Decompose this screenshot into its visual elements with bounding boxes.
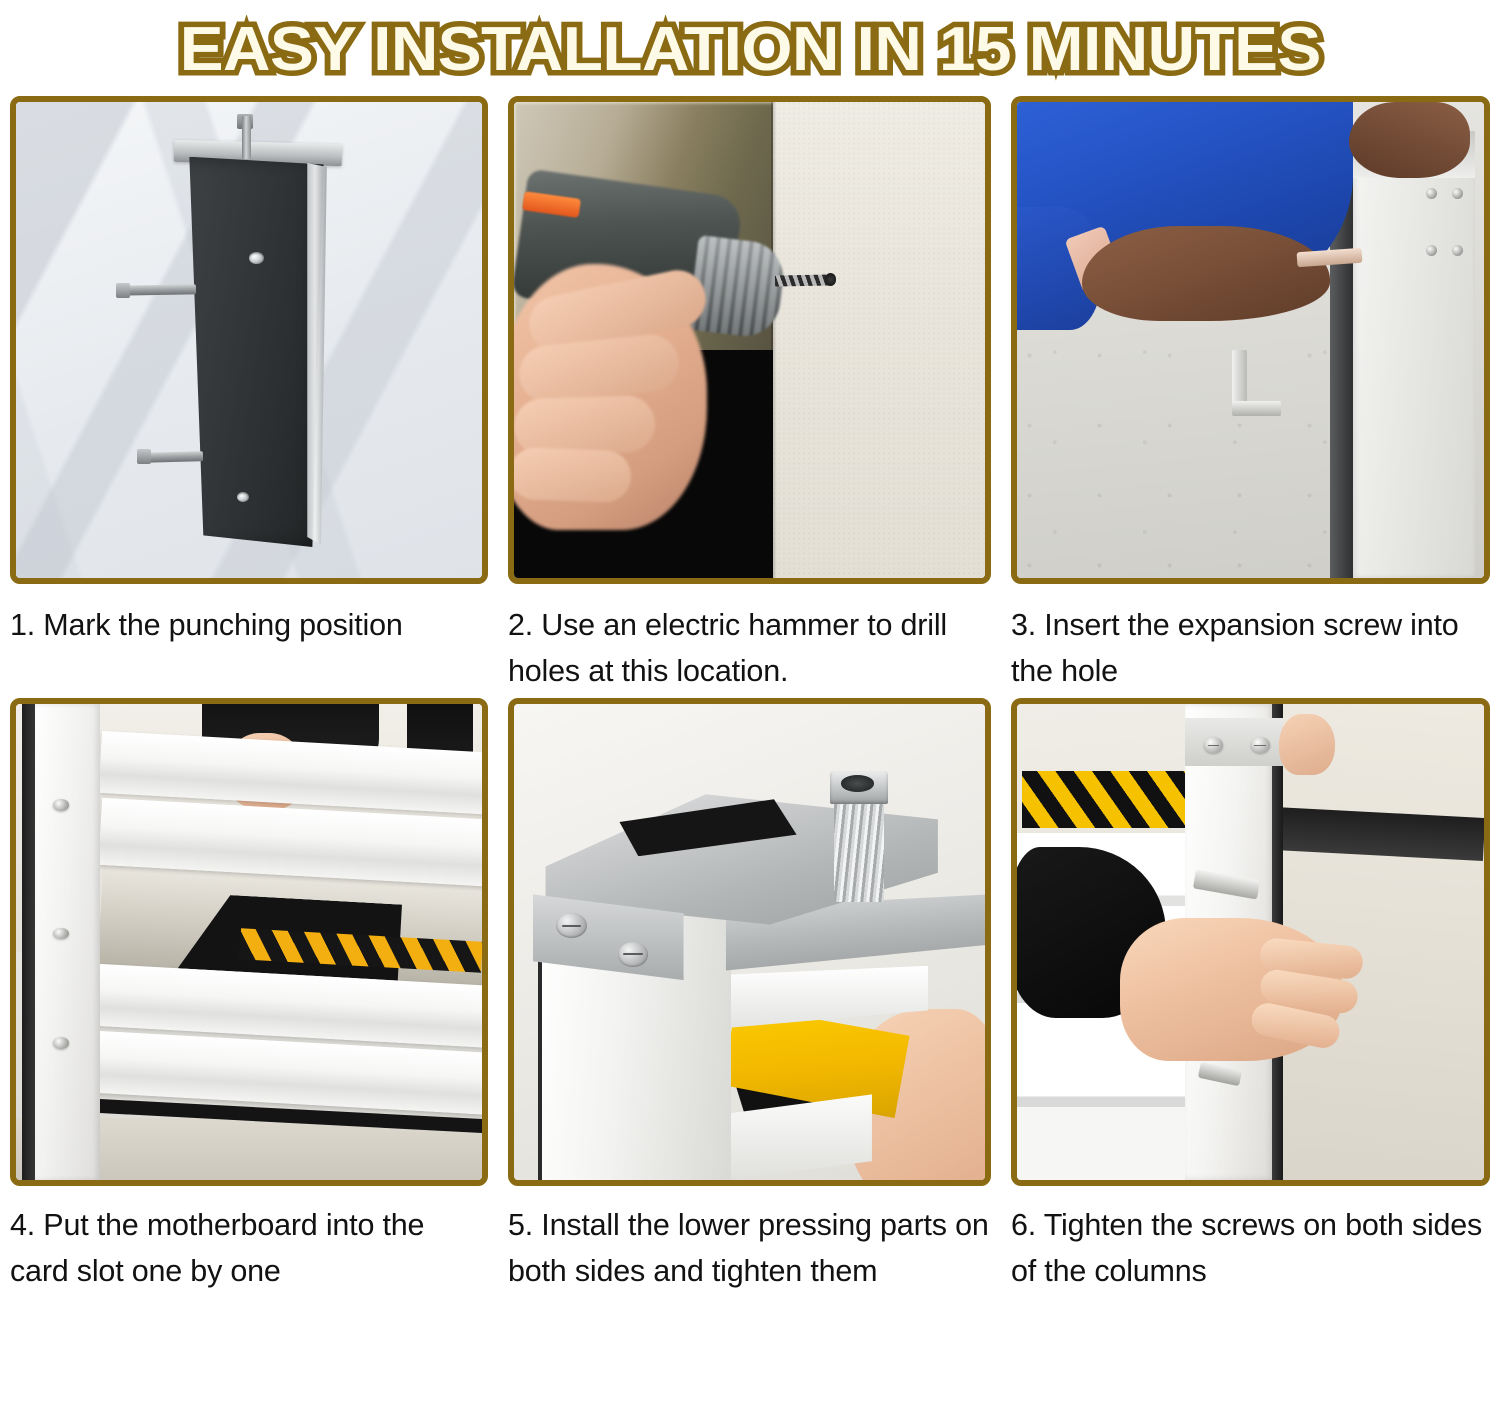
step-image-3 <box>1011 96 1490 584</box>
scene-pressing-bracket <box>514 704 985 1180</box>
step-caption-6: 6. Tighten the screws on both sides of t… <box>1011 1202 1490 1298</box>
scene-expansion-screw <box>1017 102 1484 578</box>
step-image-1 <box>10 96 488 584</box>
step-caption-4: 4. Put the motherboard into the card slo… <box>10 1202 488 1298</box>
step-card-3: 3. Insert the expansion screw into the h… <box>999 96 1500 698</box>
step-card-4: 4. Put the motherboard into the card slo… <box>0 698 496 1298</box>
step-image-4 <box>10 698 488 1186</box>
step-card-2: 2. Use an electric hammer to drill holes… <box>496 96 999 698</box>
installation-guide-page: EASY INSTALLATION IN 15 MINUTES <box>0 0 1500 1403</box>
step-caption-1: 1. Mark the punching position <box>10 602 488 698</box>
scene-column-base <box>16 102 482 578</box>
scene-drilling-wall <box>514 102 985 578</box>
step-card-1: 1. Mark the punching position <box>0 96 496 698</box>
header-banner: EASY INSTALLATION IN 15 MINUTES <box>0 0 1500 96</box>
page-title: EASY INSTALLATION IN 15 MINUTES <box>179 19 1320 81</box>
step-caption-3: 3. Insert the expansion screw into the h… <box>1011 602 1490 698</box>
scene-tighten-screws <box>1017 704 1484 1180</box>
step-caption-5: 5. Install the lower pressing parts on b… <box>508 1202 991 1298</box>
steps-grid: 1. Mark the punching position <box>0 96 1500 1298</box>
step-image-6 <box>1011 698 1490 1186</box>
step-card-5: 5. Install the lower pressing parts on b… <box>496 698 999 1298</box>
step-image-2 <box>508 96 991 584</box>
step-image-5 <box>508 698 991 1186</box>
step-caption-2: 2. Use an electric hammer to drill holes… <box>508 602 991 698</box>
step-card-6: 6. Tighten the screws on both sides of t… <box>999 698 1500 1298</box>
scene-insert-boards <box>16 704 482 1180</box>
